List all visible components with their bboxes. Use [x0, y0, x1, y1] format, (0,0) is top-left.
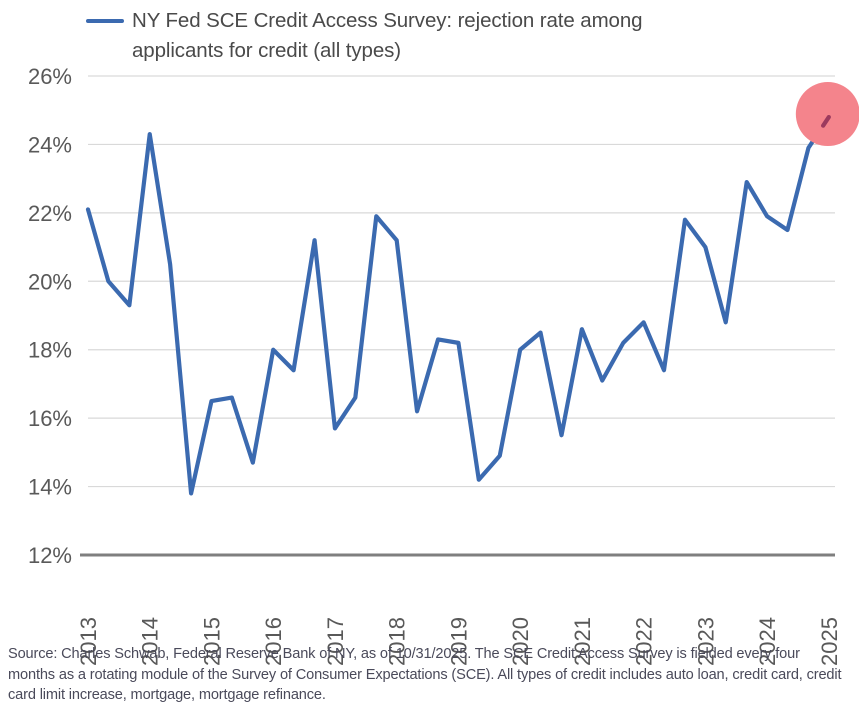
y-axis-tick-label: 22%: [28, 201, 72, 226]
source-footnote: Source: Charles Schwab, Federal Reserve …: [8, 644, 846, 706]
gridlines-group: [88, 76, 835, 487]
y-axis-tick-label: 26%: [28, 64, 72, 89]
data-series-line: [88, 117, 829, 493]
y-axis-tick-label: 16%: [28, 406, 72, 431]
y-axis-tick-label: 14%: [28, 475, 72, 500]
y-axis-tick-label: 24%: [28, 132, 72, 157]
y-axis-tick-labels: 12%14%16%18%20%22%24%26%: [28, 64, 72, 568]
y-axis-tick-label: 18%: [28, 338, 72, 363]
y-axis-tick-label: 20%: [28, 269, 72, 294]
latest-value-highlight-circle: [796, 82, 859, 146]
line-chart-plot: 12%14%16%18%20%22%24%26% 201320142015201…: [0, 0, 859, 701]
y-axis-tick-label: 12%: [28, 543, 72, 568]
chart-root: NY Fed SCE Credit Access Survey: rejecti…: [0, 0, 859, 701]
